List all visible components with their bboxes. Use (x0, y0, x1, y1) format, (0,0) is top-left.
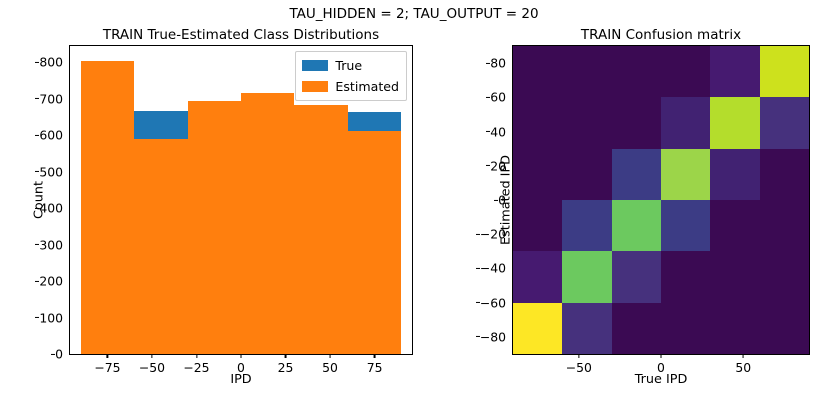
confusion-matrix-y-tick-label: −20 (480, 227, 513, 242)
histogram-y-tick-mark (35, 62, 39, 63)
legend-label-estimated: Estimated (335, 79, 399, 94)
confusion-matrix-y-tick-mark (486, 131, 490, 132)
confusion-matrix-y-tick-mark (476, 302, 480, 303)
confusion-matrix-y-tick-label: −80 (480, 329, 513, 344)
confusion-matrix-cell (661, 303, 710, 354)
confusion-matrix-y-tick-mark (486, 97, 490, 98)
confusion-matrix-y-tick-label: 60 (490, 90, 513, 105)
confusion-matrix-cell (562, 46, 611, 97)
confusion-matrix-cell (760, 97, 809, 148)
confusion-matrix-x-tick-label: 0 (657, 354, 665, 375)
confusion-matrix-cell (710, 303, 759, 354)
confusion-matrix-cell (612, 303, 661, 354)
histogram-y-tick-mark (35, 135, 39, 136)
confusion-matrix-x-tick-label: −50 (566, 354, 592, 375)
histogram-y-tick-label: 500 (39, 164, 70, 179)
histogram-y-tick-mark (35, 244, 39, 245)
legend-swatch-estimated (302, 81, 328, 92)
confusion-matrix-cell (612, 149, 661, 200)
confusion-matrix-y-tick-mark (486, 165, 490, 166)
histogram-bar (348, 131, 401, 354)
histogram-x-tick-label: −75 (94, 354, 120, 375)
figure-suptitle: TAU_HIDDEN = 2; TAU_OUTPUT = 20 (0, 6, 828, 22)
confusion-matrix-cell (760, 251, 809, 302)
histogram-y-tick-label: 700 (39, 91, 70, 106)
histogram-y-tick-label: 300 (39, 237, 70, 252)
confusion-matrix-y-tick-label: −60 (480, 295, 513, 310)
confusion-matrix-y-tick-mark (476, 268, 480, 269)
confusion-matrix-cell (612, 46, 661, 97)
confusion-matrix-y-tick-mark (486, 63, 490, 64)
histogram-axes: TRAIN True-Estimated Class Distributions… (69, 45, 413, 355)
confusion-matrix-x-tick-mark (743, 354, 744, 358)
histogram-x-tick-label: 0 (237, 354, 245, 375)
confusion-matrix-cell (513, 303, 562, 354)
confusion-matrix-x-tick-mark (578, 354, 579, 358)
histogram-y-tick-mark (35, 98, 39, 99)
confusion-matrix-y-tick-mark (494, 199, 498, 200)
legend-swatch-true (302, 60, 328, 71)
histogram-bar (294, 105, 347, 354)
confusion-matrix-cell (710, 149, 759, 200)
confusion-matrix-y-tick-label: 80 (490, 56, 513, 71)
histogram-x-tick-label: −25 (183, 354, 209, 375)
confusion-matrix-grid (513, 46, 809, 354)
histogram-x-tick-mark (330, 354, 331, 358)
confusion-matrix-cell (760, 149, 809, 200)
histogram-x-tick-mark (240, 354, 241, 358)
histogram-y-tick-mark (35, 281, 39, 282)
histogram-y-tick-label: 400 (39, 201, 70, 216)
confusion-matrix-cell (513, 46, 562, 97)
confusion-matrix-cell (513, 149, 562, 200)
confusion-matrix-x-tick-label: 50 (735, 354, 751, 375)
histogram-x-tick-mark (151, 354, 152, 358)
confusion-matrix-cell (612, 200, 661, 251)
confusion-matrix-cell (661, 149, 710, 200)
legend-label-true: True (335, 58, 362, 73)
histogram-x-tick-label: −50 (139, 354, 165, 375)
confusion-matrix-cell (710, 46, 759, 97)
confusion-matrix-y-tick-label: −40 (480, 261, 513, 276)
confusion-matrix-cell (513, 97, 562, 148)
confusion-matrix-cell (513, 200, 562, 251)
histogram-y-tick-label: 800 (39, 55, 70, 70)
histogram-title: TRAIN True-Estimated Class Distributions (70, 27, 412, 43)
confusion-matrix-y-tick-label: 0 (498, 193, 513, 208)
histogram-y-tick-mark (51, 353, 55, 354)
confusion-matrix-cell (760, 46, 809, 97)
confusion-matrix-cell (513, 251, 562, 302)
confusion-matrix-cell (710, 97, 759, 148)
histogram-bar (188, 101, 241, 354)
histogram-legend: True Estimated (295, 51, 407, 101)
confusion-matrix-cell (562, 200, 611, 251)
confusion-matrix-cell (760, 303, 809, 354)
confusion-matrix-cell (661, 97, 710, 148)
confusion-matrix-title: TRAIN Confusion matrix (513, 27, 809, 43)
confusion-matrix-cell (612, 251, 661, 302)
legend-entry-estimated: Estimated (302, 77, 399, 96)
histogram-x-tick-mark (107, 354, 108, 358)
histogram-bar (241, 93, 294, 354)
histogram-bar (134, 139, 187, 354)
histogram-bar (81, 61, 134, 354)
histogram-y-tick-label: 600 (39, 128, 70, 143)
confusion-matrix-y-tick-mark (476, 234, 480, 235)
confusion-matrix-x-tick-mark (660, 354, 661, 358)
confusion-matrix-cell (562, 251, 611, 302)
confusion-matrix-y-tick-label: 40 (490, 124, 513, 139)
histogram-x-tick-label: 25 (278, 354, 294, 375)
histogram-y-tick-mark (35, 317, 39, 318)
confusion-matrix-cell (661, 251, 710, 302)
matplotlib-figure: TAU_HIDDEN = 2; TAU_OUTPUT = 20 TRAIN Tr… (0, 0, 828, 411)
confusion-matrix-cell (710, 251, 759, 302)
histogram-x-tick-mark (196, 354, 197, 358)
histogram-y-tick-label: 200 (39, 274, 70, 289)
confusion-matrix-cell (612, 97, 661, 148)
confusion-matrix-cell (562, 149, 611, 200)
confusion-matrix-cell (562, 303, 611, 354)
confusion-matrix-axes: TRAIN Confusion matrix Estimated IPD Tru… (512, 45, 810, 355)
confusion-matrix-cell (661, 200, 710, 251)
histogram-y-tick-mark (35, 208, 39, 209)
legend-entry-true: True (302, 56, 399, 75)
histogram-x-tick-label: 75 (367, 354, 383, 375)
confusion-matrix-cell (661, 46, 710, 97)
histogram-x-tick-mark (374, 354, 375, 358)
histogram-y-tick-label: 0 (55, 347, 70, 362)
confusion-matrix-cell (760, 200, 809, 251)
histogram-x-tick-label: 50 (322, 354, 338, 375)
confusion-matrix-y-tick-mark (476, 336, 480, 337)
confusion-matrix-cell (562, 97, 611, 148)
histogram-x-tick-mark (285, 354, 286, 358)
histogram-y-tick-mark (35, 171, 39, 172)
confusion-matrix-y-tick-label: 20 (490, 158, 513, 173)
histogram-y-tick-label: 100 (39, 310, 70, 325)
confusion-matrix-cell (710, 200, 759, 251)
